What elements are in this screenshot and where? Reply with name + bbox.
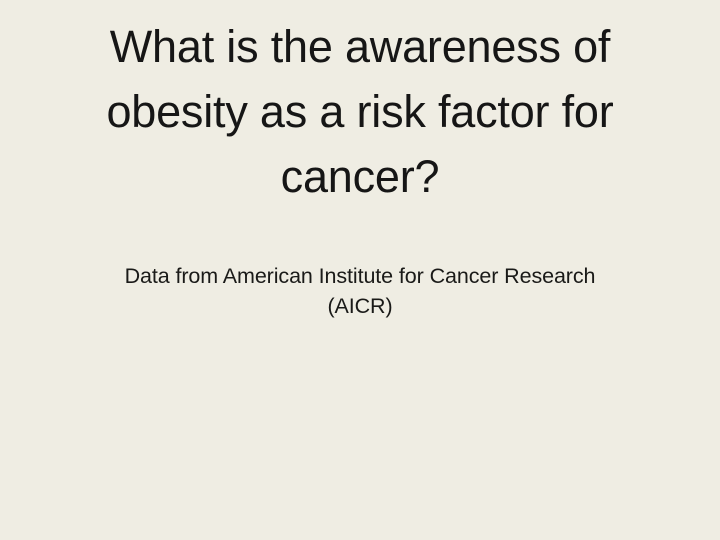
- title-line-3: cancer?: [28, 144, 692, 209]
- slide-title: What is the awareness of obesity as a ri…: [28, 14, 692, 209]
- subtitle-line-1: Data from American Institute for Cancer …: [28, 261, 692, 291]
- slide-empty-region: [0, 340, 720, 540]
- subtitle-line-2: (AICR): [28, 291, 692, 321]
- slide-content-area: What is the awareness of obesity as a ri…: [0, 0, 720, 321]
- slide-subtitle: Data from American Institute for Cancer …: [28, 261, 692, 321]
- title-line-2: obesity as a risk factor for: [28, 79, 692, 144]
- title-line-1: What is the awareness of: [28, 14, 692, 79]
- presentation-slide: What is the awareness of obesity as a ri…: [0, 0, 720, 540]
